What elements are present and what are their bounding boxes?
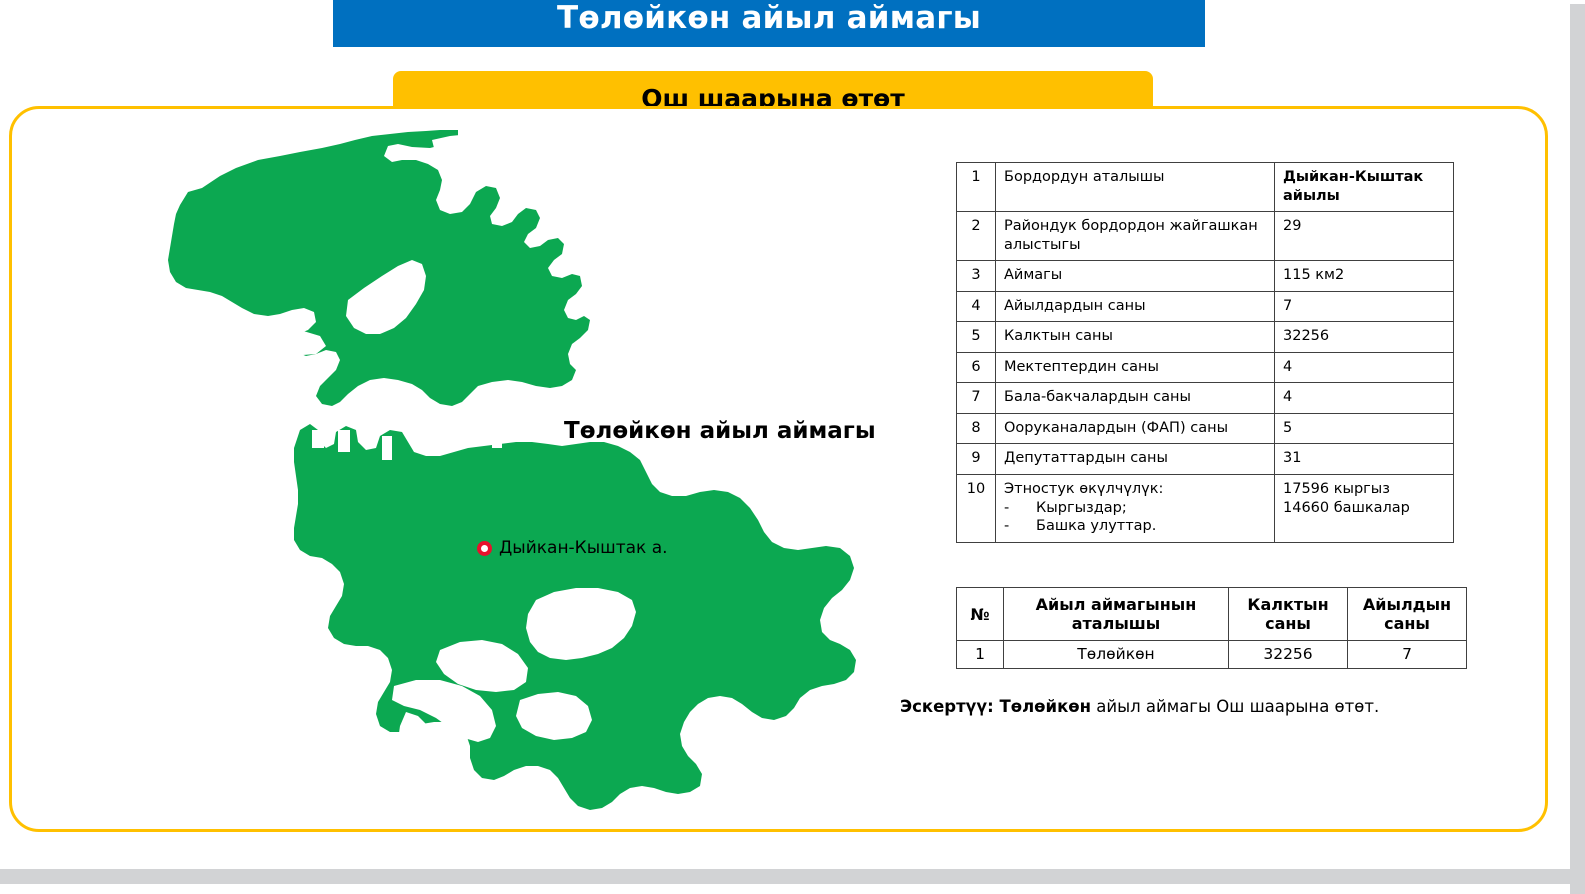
row-value: 32256 <box>1275 322 1454 353</box>
region-hole-lower-left <box>266 460 294 562</box>
page-title-bar: Төлөйкөн айыл аймагы <box>333 0 1205 47</box>
row-value: 31 <box>1275 444 1454 475</box>
row-label: Райондук бордордон жайгашкан алыстыгы <box>996 212 1275 261</box>
dash-bullet: - <box>1004 499 1012 518</box>
summary-table-body: 1 Төлөйкөн 32256 7 <box>957 641 1467 669</box>
col-header-name: Айыл аймагынын аталышы <box>1004 588 1229 641</box>
row-value: 4 <box>1275 383 1454 414</box>
row-index: 2 <box>957 212 996 261</box>
col-header-no: № <box>957 588 1004 641</box>
row-value: 5 <box>1275 413 1454 444</box>
region-notch-c <box>422 430 432 450</box>
table-row: 1 Бордордун аталышы Дыйкан-Кыштак айылы <box>957 163 1454 212</box>
info-table-body: 1 Бордордун аталышы Дыйкан-Кыштак айылы … <box>957 163 1454 543</box>
table-row: 2 Райондук бордордон жайгашкан алыстыгы … <box>957 212 1454 261</box>
region-map-svg <box>140 130 860 810</box>
horizontal-scrollbar[interactable] <box>0 869 1570 884</box>
row-label: Аймагы <box>996 261 1275 292</box>
region-notch-b <box>382 436 392 460</box>
row-label: Калктын саны <box>996 322 1275 353</box>
ethnic-sub-list: - Кыргыздар; - Башка улуттар. <box>1004 499 1266 536</box>
table-row: 4 Айылдардын саны 7 <box>957 291 1454 322</box>
table-row: 9 Депутаттардын саны 31 <box>957 444 1454 475</box>
row-index: 1 <box>957 163 996 212</box>
row-value: 4 <box>1275 352 1454 383</box>
row-label: Депутаттардын саны <box>996 444 1275 475</box>
row-index: 9 <box>957 444 996 475</box>
row-value: 7 <box>1275 291 1454 322</box>
row-label: Бала-бакчалардын саны <box>996 383 1275 414</box>
dash-bullet: - <box>1004 517 1012 536</box>
village-info-table: 1 Бордордун аталышы Дыйкан-Кыштак айылы … <box>956 162 1454 543</box>
row-index: 8 <box>957 413 996 444</box>
table-header-row: № Айыл аймагынын аталышы Калктын саны Ай… <box>957 588 1467 641</box>
table-row: 5 Калктын саны 32256 <box>957 322 1454 353</box>
table-row: 1 Төлөйкөн 32256 7 <box>957 641 1467 669</box>
village-summary-table: № Айыл аймагынын аталышы Калктын саны Ай… <box>956 587 1467 669</box>
region-polygon-group <box>168 130 856 810</box>
table-row: 10 Этностук өкүлчүлүк: - Кыргыздар; - Ба… <box>957 475 1454 543</box>
table-row: 3 Аймагы 115 км2 <box>957 261 1454 292</box>
region-notch-d <box>312 430 324 448</box>
row-value: 115 км2 <box>1275 261 1454 292</box>
ethnic-value-line: 17596 кыргыз <box>1283 480 1445 499</box>
footnote: Эскертүү: Төлөйкөн айыл аймагы Ош шаарын… <box>900 696 1460 717</box>
row-label-ethnic: Этностук өкүлчүлүк: - Кыргыздар; - Башка… <box>996 475 1275 543</box>
row-index: 7 <box>957 383 996 414</box>
row-index: 10 <box>957 475 996 543</box>
footnote-bold-prefix: Эскертүү: Төлөйкөн <box>900 697 1091 716</box>
row-label: Айылдардын саны <box>996 291 1275 322</box>
region-north-polygon <box>168 130 590 406</box>
row-value: 29 <box>1275 212 1454 261</box>
list-item: - Кыргыздар; <box>1004 499 1266 518</box>
row-index: 3 <box>957 261 996 292</box>
ethnic-heading: Этностук өкүлчүлүк: <box>1004 480 1266 499</box>
row-label: Ооруканалардын (ФАП) саны <box>996 413 1275 444</box>
table-row: 6 Мектептердин саны 4 <box>957 352 1454 383</box>
vertical-scrollbar[interactable] <box>1570 0 1585 894</box>
summary-table-head: № Айыл аймагынын аталышы Калктын саны Ай… <box>957 588 1467 641</box>
table-row: 7 Бала-бакчалардын саны 4 <box>957 383 1454 414</box>
cell-villages: 7 <box>1348 641 1467 669</box>
region-notch-e <box>458 432 468 448</box>
cell-no: 1 <box>957 641 1004 669</box>
list-item: - Башка улуттар. <box>1004 517 1266 536</box>
region-notch-a <box>338 430 350 452</box>
col-header-population: Калктын саны <box>1229 588 1348 641</box>
map-container: Төлөйкөн айыл аймагы Дыйкан-Кыштак а. <box>140 130 860 810</box>
row-value: Дыйкан-Кыштак айылы <box>1275 163 1454 212</box>
page-title: Төлөйкөн айыл аймагы <box>557 3 981 34</box>
ethnic-item-label: Башка улуттар. <box>1036 517 1156 536</box>
table-row: 8 Ооруканалардын (ФАП) саны 5 <box>957 413 1454 444</box>
ethnic-item-label: Кыргыздар; <box>1036 499 1127 518</box>
row-index: 4 <box>957 291 996 322</box>
cell-population: 32256 <box>1229 641 1348 669</box>
scrollbar-top-gap <box>1570 0 1585 4</box>
row-label: Бордордун аталышы <box>996 163 1275 212</box>
row-value-ethnic: 17596 кыргыз 14660 башкалар <box>1275 475 1454 543</box>
row-label: Мектептердин саны <box>996 352 1275 383</box>
row-index: 5 <box>957 322 996 353</box>
map-center-label: Дыйкан-Кыштак а. <box>499 538 668 558</box>
map-region-label: Төлөйкөн айыл аймагы <box>564 418 876 444</box>
ethnic-value-line: 14660 башкалар <box>1283 499 1445 518</box>
footnote-rest: айыл аймагы Ош шаарына өтөт. <box>1091 697 1379 716</box>
cell-name: Төлөйкөн <box>1004 641 1229 669</box>
col-header-villages: Айылдын саны <box>1348 588 1467 641</box>
row-index: 6 <box>957 352 996 383</box>
region-notch-f <box>492 434 502 448</box>
map-center-marker-icon <box>477 541 492 556</box>
